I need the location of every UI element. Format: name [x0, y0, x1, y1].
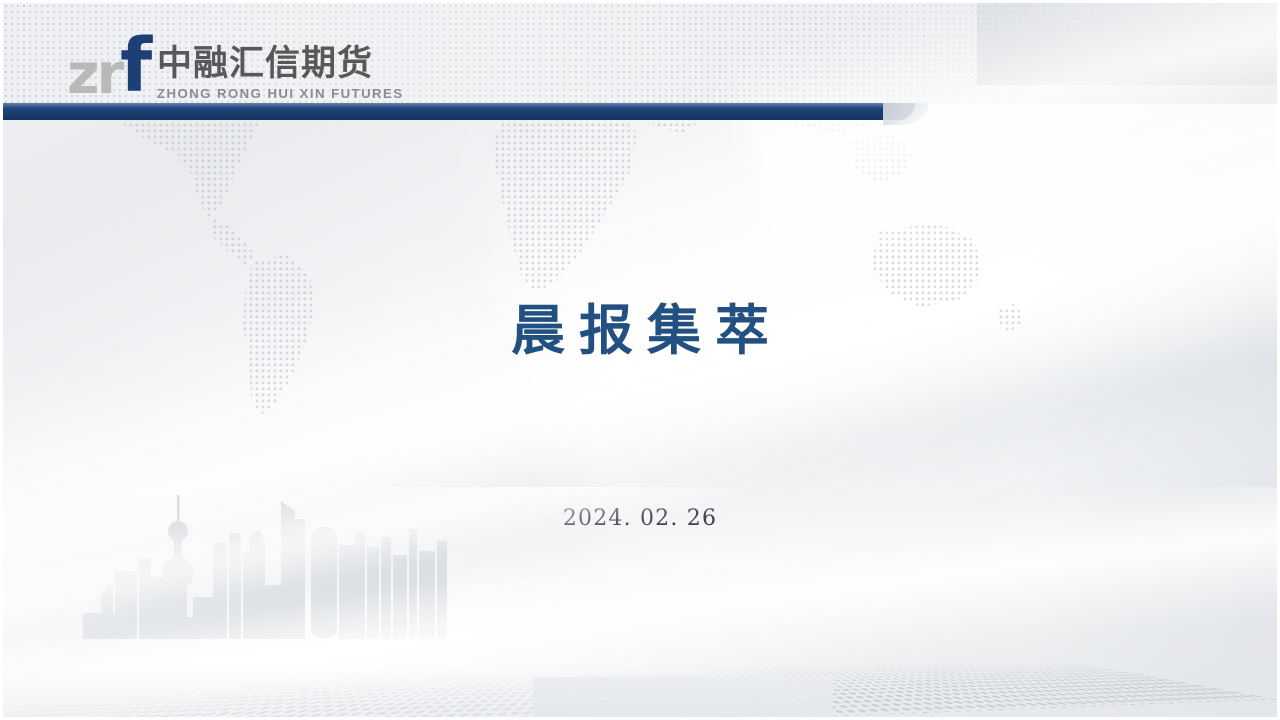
page-title: 晨报集萃 — [3, 286, 1277, 365]
report-date: 2024. 02. 26 — [3, 506, 1277, 531]
bottom-gray-panel — [533, 677, 833, 717]
background-swoosh-shadow — [3, 194, 1277, 717]
slide-canvas: zr f 中融汇信期货 ZHONG RONG HUI XIN FUTURES 晨… — [3, 3, 1277, 717]
company-name-cn: 中融汇信期货 — [157, 47, 404, 83]
header-sheen — [726, 3, 1277, 285]
halftone-perspective-grid — [3, 658, 1275, 717]
logo-mark-zr-letters: zr — [67, 47, 121, 103]
company-logo: zr f 中融汇信期货 ZHONG RONG HUI XIN FUTURES — [67, 39, 404, 101]
logo-mark-f-letter: f — [120, 29, 152, 103]
logo-wordmark: 中融汇信期货 ZHONG RONG HUI XIN FUTURES — [157, 47, 404, 101]
company-name-en: ZHONG RONG HUI XIN FUTURES — [157, 87, 404, 100]
logo-mark-zrf-icon: zr f — [67, 39, 151, 101]
bottom-shade — [3, 665, 1277, 717]
title-slide: zr f 中融汇信期货 ZHONG RONG HUI XIN FUTURES 晨… — [0, 0, 1280, 720]
header-gray-block — [977, 3, 1277, 85]
